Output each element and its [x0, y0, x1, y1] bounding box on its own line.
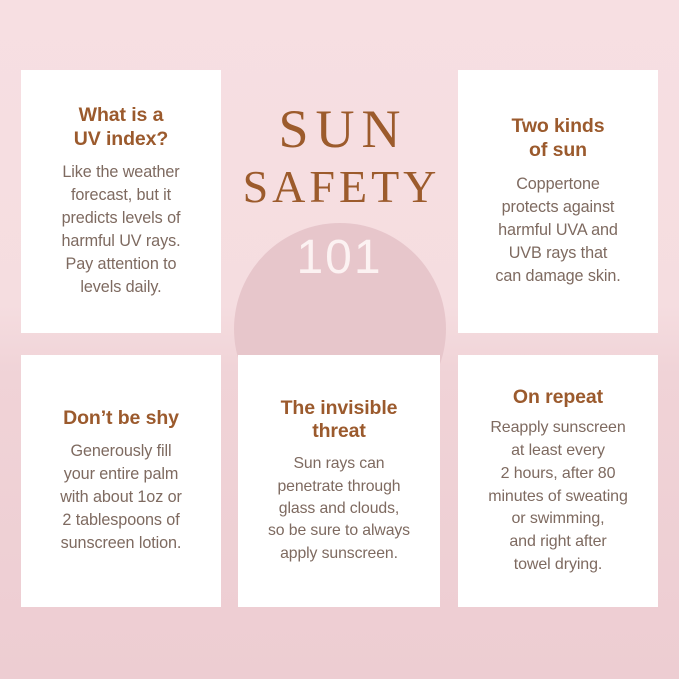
sun-safety-infographic: What is aUV index? Like the weatherforec… [0, 0, 679, 679]
hero-line-sun: SUN [271, 102, 407, 156]
card-body-invisible-threat: Sun rays canpenetrate throughglass and c… [268, 453, 410, 565]
card-title-on-repeat: On repeat [513, 386, 603, 410]
hero-line-safety: SAFETY [239, 164, 441, 210]
info-card-uv-index: What is aUV index? Like the weatherforec… [21, 70, 221, 333]
card-title-invisible-threat: The invisiblethreat [281, 397, 398, 445]
info-card-dont-be-shy: Don’t be shy Generously fillyour entire … [21, 355, 221, 607]
info-card-invisible-threat: The invisiblethreat Sun rays canpenetrat… [238, 355, 440, 607]
info-card-two-kinds-of-sun: Two kindsof sun Coppertoneprotects again… [458, 70, 658, 333]
hero-number-101: 101 [296, 234, 382, 282]
card-body-on-repeat: Reapply sunscreenat least every2 hours, … [488, 417, 628, 576]
card-title-uv-index: What is aUV index? [74, 104, 168, 152]
hero-text-group: SUN SAFETY 101 [228, 70, 451, 333]
card-body-uv-index: Like the weatherforecast, but itpredicts… [62, 161, 181, 299]
hero-title-block: SUN SAFETY 101 [228, 70, 451, 333]
card-title-two-kinds-of-sun: Two kindsof sun [512, 115, 605, 163]
card-title-dont-be-shy: Don’t be shy [63, 407, 179, 431]
card-body-dont-be-shy: Generously fillyour entire palmwith abou… [60, 440, 182, 555]
info-card-on-repeat: On repeat Reapply sunscreenat least ever… [458, 355, 658, 607]
card-body-two-kinds-of-sun: Coppertoneprotects againstharmful UVA an… [495, 173, 620, 288]
